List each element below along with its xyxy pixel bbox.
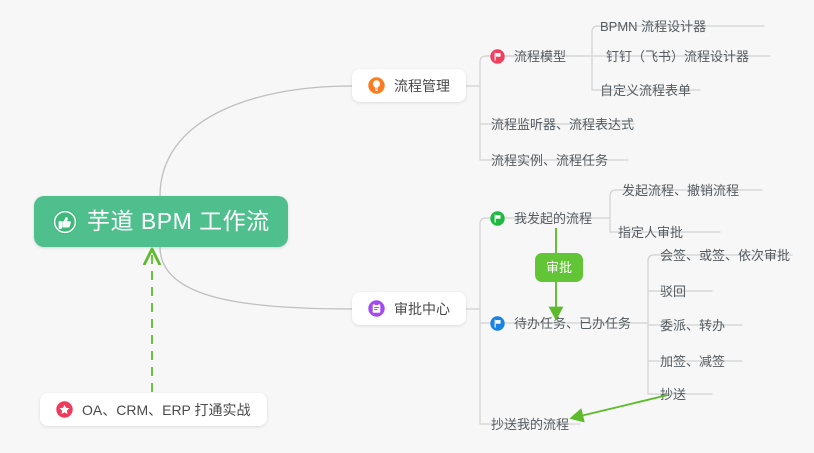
node-add-remove-sign[interactable]: 加签、减签 (658, 346, 735, 376)
node-my-initiated-process[interactable]: 我发起的流程 (488, 203, 602, 233)
node-label: 流程实例、流程任务 (491, 154, 608, 167)
node-label: 待办任务、已办任务 (514, 317, 631, 330)
blue-flag-icon (490, 316, 505, 331)
node-start-cancel-process[interactable]: 发起流程、撤销流程 (620, 175, 749, 205)
branch-label: 流程管理 (394, 79, 450, 93)
callout-label: OA、CRM、ERP 打通实战 (82, 403, 251, 417)
node-label: BPMN 流程设计器 (600, 20, 706, 33)
red-flag-icon (490, 49, 505, 64)
node-delegate-transfer[interactable]: 委派、转办 (658, 310, 735, 340)
node-todo-done-tasks[interactable]: 待办任务、已办任务 (488, 308, 641, 338)
node-process-listener-expression[interactable]: 流程监听器、流程表达式 (489, 109, 644, 139)
callout-node[interactable]: OA、CRM、ERP 打通实战 (40, 393, 267, 426)
clipboard-icon (368, 300, 385, 317)
edge-root-to-process-management (160, 86, 352, 196)
node-reject[interactable]: 驳回 (658, 276, 696, 306)
node-counter-or-sequential-sign[interactable]: 会签、或签、依次审批 (658, 240, 800, 270)
node-cc-to-me-process[interactable]: 抄送我的流程 (489, 409, 579, 439)
node-label: 会签、或签、依次审批 (660, 249, 790, 262)
node-label: 委派、转办 (660, 319, 725, 332)
branch-approval-center[interactable]: 审批中心 (352, 292, 466, 325)
star-icon (56, 401, 73, 418)
root-node[interactable]: 芋道 BPM 工作流 (34, 196, 288, 247)
node-label: 加签、减签 (660, 355, 725, 368)
branch-process-management[interactable]: 流程管理 (352, 69, 466, 102)
node-label: 我发起的流程 (514, 212, 592, 225)
node-label: 钉钉（飞书）流程设计器 (606, 50, 749, 63)
tag-label: 审批 (546, 261, 572, 274)
node-label: 流程模型 (514, 50, 566, 63)
tag-approve: 审批 (535, 253, 583, 282)
node-dingtalk-feishu-designer[interactable]: 钉钉（飞书）流程设计器 (604, 41, 759, 71)
branch-label: 审批中心 (394, 302, 450, 316)
thumbs-up-icon (52, 209, 78, 235)
node-label: 驳回 (660, 285, 686, 298)
node-label: 发起流程、撤销流程 (622, 184, 739, 197)
node-label: 抄送我的流程 (491, 418, 569, 431)
node-label: 流程监听器、流程表达式 (491, 118, 634, 131)
arrow-cc-to-ccme (572, 395, 668, 418)
green-flag-icon (490, 211, 505, 226)
edge-root-to-approval-center (160, 247, 352, 309)
lightbulb-icon (368, 77, 385, 94)
node-custom-process-form[interactable]: 自定义流程表单 (598, 75, 701, 105)
node-process-model[interactable]: 流程模型 (488, 41, 576, 71)
node-bpmn-designer[interactable]: BPMN 流程设计器 (598, 11, 716, 41)
node-label: 抄送 (660, 388, 686, 401)
node-process-instance-task[interactable]: 流程实例、流程任务 (489, 145, 618, 175)
root-label: 芋道 BPM 工作流 (87, 210, 270, 233)
node-label: 指定人审批 (618, 226, 683, 239)
node-cc[interactable]: 抄送 (658, 379, 696, 409)
node-label: 自定义流程表单 (600, 84, 691, 97)
mindmap-canvas: 芋道 BPM 工作流 流程管理 流程模型 BPMN 流程设计器 钉钉（飞书 (0, 0, 814, 453)
